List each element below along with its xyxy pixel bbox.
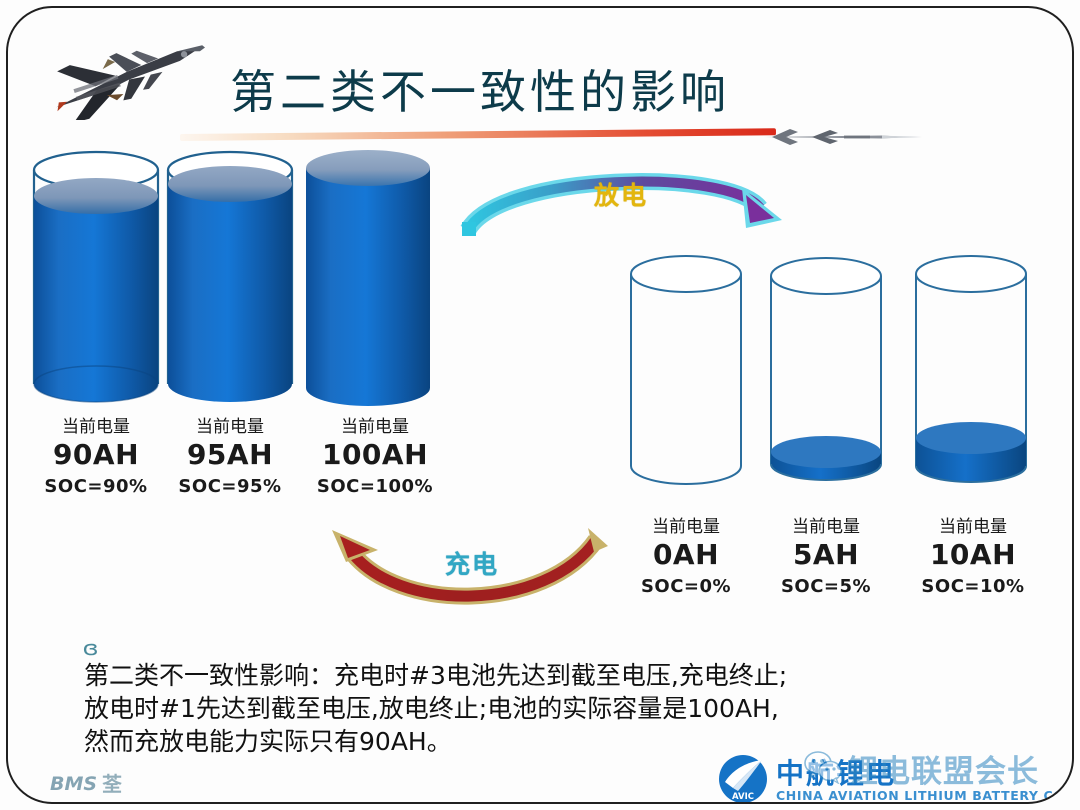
capacity-value: 100AH [290,438,460,472]
avic-mark-text: AVIC [732,792,754,802]
svg-text:荃: 荃 [102,772,122,796]
cylinder-charged-3 [298,144,438,412]
avic-mark-icon: AVIC [718,754,768,802]
wechat-icon [803,750,843,784]
label-discharged-3: 当前电量 10AH SOC=10% [893,516,1053,602]
bms-logo: BMS 荃 [50,770,170,796]
caption-text: 当前电量 [150,416,310,438]
cylinder-discharged-3 [908,252,1034,488]
soc-value: SOC=95% [150,472,310,502]
capacity-value: 95AH [150,438,310,472]
soc-value: SOC=10% [893,572,1053,602]
soc-value: SOC=100% [290,472,460,502]
body-paragraph: ɞ 第二类不一致性影响：充电时#3电池先达到截至电压,充电终止; 放电时#1先达… [84,626,1069,758]
capacity-value: 5AH [748,538,904,572]
cylinder-charged-1 [26,148,166,408]
capacity-value: 10AH [893,538,1053,572]
paragraph-line-2: 放电时#1先达到截至电压,放电终止;电池的实际容量是100AH, [84,692,1069,725]
red-gradient-rule [180,128,776,141]
label-charged-2: 当前电量 95AH SOC=95% [150,416,310,502]
watermark: 锂电联盟会长 [803,744,1072,796]
bms-logo-text: BMS [50,773,97,795]
slide-inner: 第二类不一致性的影响 [8,8,1072,802]
discharge-label: 放电 [594,176,648,212]
charge-label: 充电 [445,545,499,581]
soc-value: SOC=5% [748,572,904,602]
paragraph-line-1: 第二类不一致性影响：充电时#3电池先达到截至电压,充电终止; [84,659,1069,692]
caption-text: 当前电量 [748,516,904,538]
cylinder-charged-2 [160,148,300,408]
caption-text: 当前电量 [290,416,460,438]
ornament-bullet-icon: ɞ [83,632,99,665]
missile-icon [764,126,924,148]
label-discharged-2: 当前电量 5AH SOC=5% [748,516,904,602]
cylinder-discharged-2 [763,256,889,488]
fighter-jet-icon [32,32,222,120]
watermark-text: 锂电联盟会长 [847,746,1039,791]
label-charged-3: 当前电量 100AH SOC=100% [290,416,460,502]
cylinder-discharged-1 [623,252,749,488]
slide-canvas: 第二类不一致性的影响 [0,0,1080,810]
page-title: 第二类不一致性的影响 [230,66,730,118]
caption-text: 当前电量 [893,516,1053,538]
